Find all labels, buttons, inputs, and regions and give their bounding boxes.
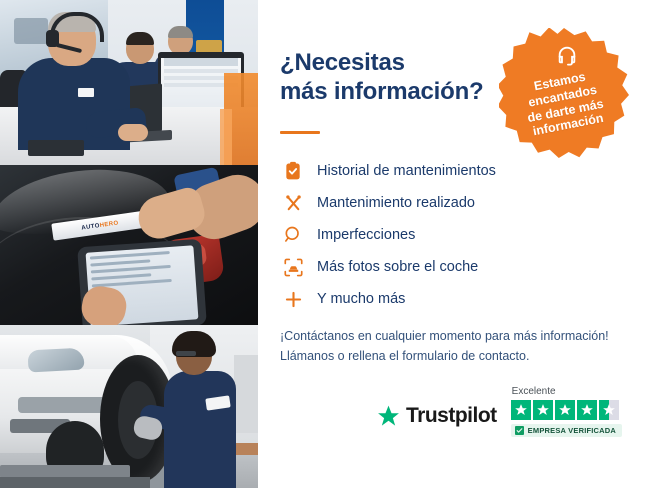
- crossed-tools-icon: [280, 190, 306, 216]
- star-filled: [511, 400, 531, 420]
- star-filled: [577, 400, 597, 420]
- feature-list: Historial de mantenimientos Mantenimient…: [280, 155, 580, 315]
- trustpilot-wordmark: Trustpilot: [406, 404, 497, 428]
- headline-line-1: ¿Necesitas: [280, 49, 405, 76]
- agent-2-hair: [126, 32, 154, 45]
- mechanic-wheel-inspection-photo: [0, 325, 258, 488]
- ruler-brand-text: AUTO: [81, 223, 100, 232]
- clipboard-check-icon: [280, 158, 306, 184]
- agent-1-name-badge: [78, 88, 94, 97]
- verified-label: EMPRESA VERIFICADA: [528, 426, 616, 435]
- verified-check-icon: [515, 426, 524, 435]
- badge-text-wrap: Estamos encantados de darte más informac…: [499, 28, 629, 158]
- info-promo-banner: AUTOHERO: [0, 0, 650, 488]
- feature-label: Y mucho más: [317, 292, 405, 307]
- trustpilot-star-icon: [376, 404, 401, 429]
- car-lift-base: [0, 477, 150, 488]
- plus-icon: [280, 286, 306, 312]
- desk-tablet: [28, 140, 84, 156]
- feature-label: Historial de mantenimientos: [317, 164, 496, 179]
- rating-label: Excelente: [512, 386, 556, 397]
- tablet-line: [91, 273, 151, 280]
- support-badge: Estamos encantados de darte más informac…: [499, 28, 629, 158]
- tablet-line: [90, 259, 150, 266]
- safety-glasses: [176, 351, 196, 356]
- ruler-brand-accent: HERO: [99, 220, 119, 229]
- tablet-line: [90, 251, 170, 260]
- workshop-shelf: [234, 355, 258, 433]
- rating-stars: [511, 400, 619, 420]
- monitor-toolbar: [164, 58, 238, 66]
- trustpilot-rating: Excelente: [511, 386, 622, 437]
- feature-label: Imperfecciones: [317, 228, 415, 243]
- star-filled: [533, 400, 553, 420]
- car-scan-icon: [280, 254, 306, 280]
- content-panel: ¿Necesitas más información? Estamos enca…: [258, 0, 650, 488]
- agent-1-hand: [118, 124, 148, 141]
- car-headlight: [27, 348, 84, 373]
- feature-label: Mantenimiento realizado: [317, 196, 475, 211]
- call-center-agents-photo: [0, 0, 258, 165]
- headline-line-2: más información?: [280, 77, 530, 106]
- contact-paragraph: ¡Contáctanos en cualquier momento para m…: [280, 326, 640, 367]
- verified-company-badge: EMPRESA VERIFICADA: [511, 424, 622, 437]
- agent-3-hair: [168, 26, 193, 38]
- magnifier-icon: [280, 222, 306, 248]
- paragraph-line-2: Llámanos o rellena el formulario de cont…: [280, 349, 529, 363]
- trustpilot-logo[interactable]: Trustpilot: [376, 404, 497, 429]
- feature-item-fotos: Más fotos sobre el coche: [280, 251, 580, 283]
- tablet-line: [91, 265, 171, 274]
- vehicle-inspection-ruler-photo: AUTOHERO: [0, 165, 258, 325]
- trustpilot-block[interactable]: Trustpilot Excelente: [376, 386, 622, 437]
- star-filled: [555, 400, 575, 420]
- feature-item-historial: Historial de mantenimientos: [280, 155, 580, 187]
- page-title: ¿Necesitas más información?: [280, 48, 530, 107]
- title-underline-rule: [280, 131, 320, 134]
- feature-label: Más fotos sobre el coche: [317, 260, 478, 275]
- orange-divider-wall-2: [220, 109, 232, 165]
- paragraph-line-1: ¡Contáctanos en cualquier momento para m…: [280, 329, 609, 343]
- feature-item-mantenimiento: Mantenimiento realizado: [280, 187, 580, 219]
- photo-column: AUTOHERO: [0, 0, 258, 488]
- badge-text: Estamos encantados de darte más informac…: [507, 64, 620, 142]
- feature-item-mucho-mas: Y mucho más: [280, 283, 580, 315]
- star-half: [599, 400, 619, 420]
- feature-item-imperfecciones: Imperfecciones: [280, 219, 580, 251]
